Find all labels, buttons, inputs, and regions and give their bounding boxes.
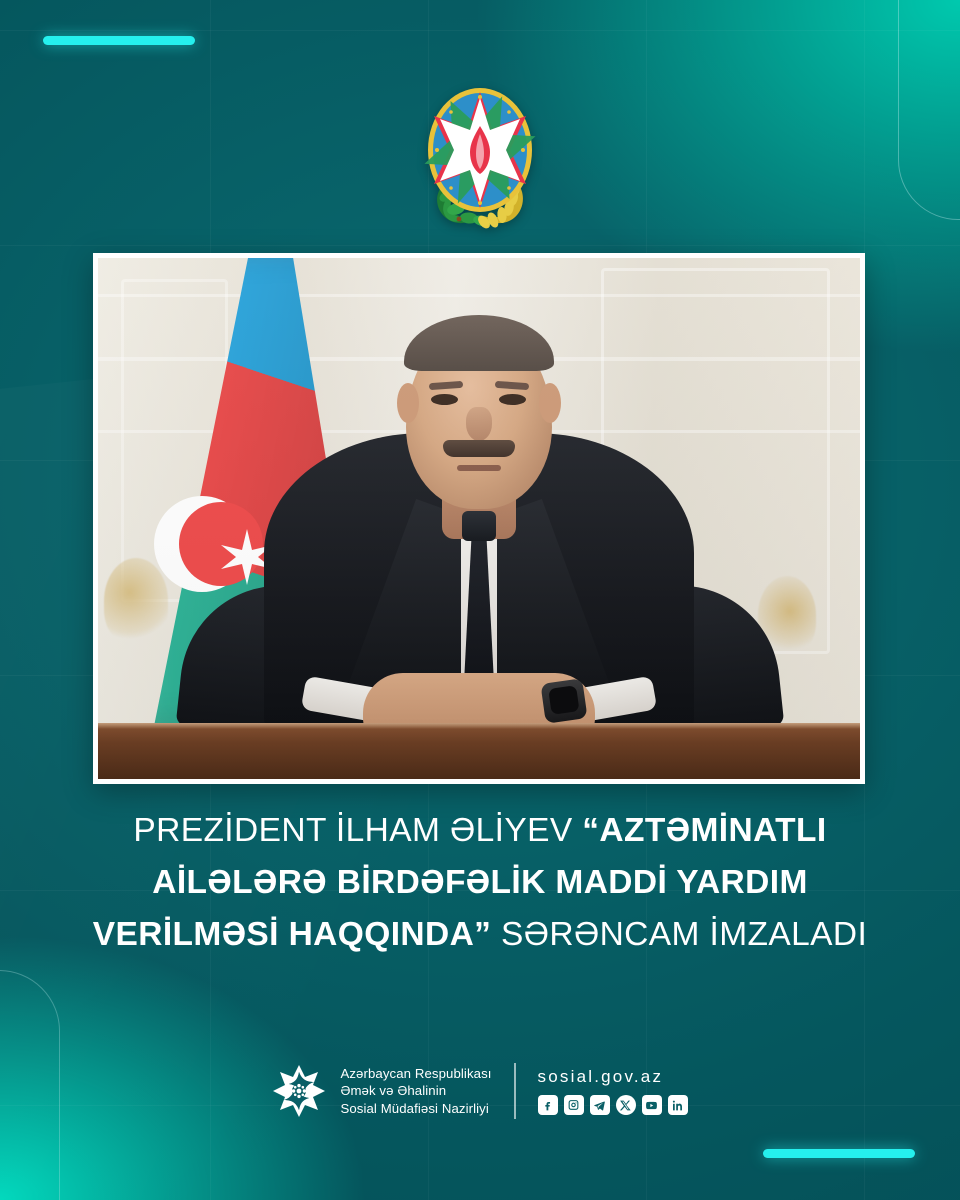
linkedin-icon[interactable] (668, 1095, 688, 1115)
accent-bar-bottom-right (763, 1149, 915, 1158)
x-twitter-icon[interactable] (616, 1095, 636, 1115)
facebook-icon[interactable] (538, 1095, 558, 1115)
press-card: PREZİDENT İLHAM ƏLİYEV “AZTƏMİNATLI AİLƏ… (0, 0, 960, 1200)
telegram-icon[interactable] (590, 1095, 610, 1115)
ministry-name: Azərbaycan Respublikası Əmək və Əhalinin… (340, 1065, 491, 1118)
ministry-brand: Azərbaycan Respublikası Əmək və Əhalinin… (272, 1064, 491, 1118)
desk (98, 723, 860, 779)
footer: Azərbaycan Respublikası Əmək və Əhalinin… (0, 1063, 960, 1119)
headline-part-1: PREZİDENT İLHAM ƏLİYEV (133, 812, 582, 849)
wristwatch (540, 678, 587, 723)
state-emblem-icon (414, 78, 546, 230)
president-figure (98, 258, 860, 779)
headline-part-3: AİLƏLƏRƏ BİRDƏFƏLİK MADDİ YARDIM (152, 864, 808, 901)
ministry-star-logo-icon (272, 1064, 326, 1118)
president-photo (98, 258, 860, 779)
president-photo-frame (93, 253, 865, 784)
hairline-top-right (898, 0, 960, 220)
headline-part-5: SƏRƏNCAM İMZALADI (491, 916, 867, 953)
headline-part-2: “AZTƏMİNATLI (582, 812, 826, 849)
contact-block: sosial.gov.az (538, 1067, 688, 1115)
footer-divider (514, 1063, 516, 1119)
headline: PREZİDENT İLHAM ƏLİYEV “AZTƏMİNATLI AİLƏ… (0, 805, 960, 961)
instagram-icon[interactable] (564, 1095, 584, 1115)
accent-bar-top-left (43, 36, 195, 45)
headline-part-4: VERİLMƏSİ HAQQINDA” (93, 916, 492, 953)
youtube-icon[interactable] (642, 1095, 662, 1115)
website-url[interactable]: sosial.gov.az (538, 1067, 664, 1087)
social-links (538, 1095, 688, 1115)
